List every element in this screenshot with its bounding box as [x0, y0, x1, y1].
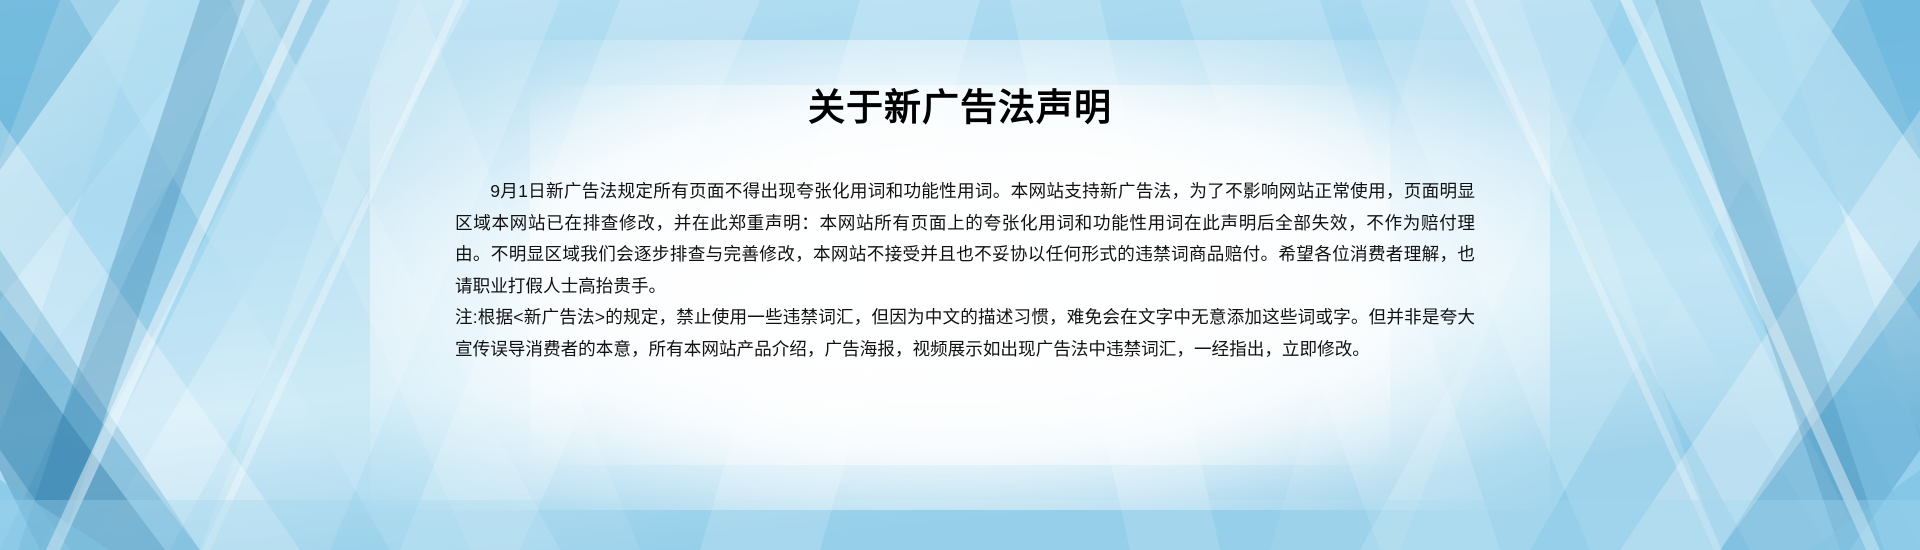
statement-content: 关于新广告法声明 9月1日新广告法规定所有页面不得出现夸张化用词和功能性用词。本… — [0, 0, 1920, 550]
statement-paragraph-main: 9月1日新广告法规定所有页面不得出现夸张化用词和功能性用词。本网站支持新广告法，… — [455, 176, 1475, 302]
statement-body: 9月1日新广告法规定所有页面不得出现夸张化用词和功能性用词。本网站支持新广告法，… — [455, 176, 1475, 365]
page-title: 关于新广告法声明 — [0, 86, 1920, 130]
statement-paragraph-note: 注:根据<新广告法>的规定，禁止使用一些违禁词汇，但因为中文的描述习惯，难免会在… — [455, 302, 1475, 365]
advertising-law-statement-banner: 关于新广告法声明 9月1日新广告法规定所有页面不得出现夸张化用词和功能性用词。本… — [0, 0, 1920, 550]
